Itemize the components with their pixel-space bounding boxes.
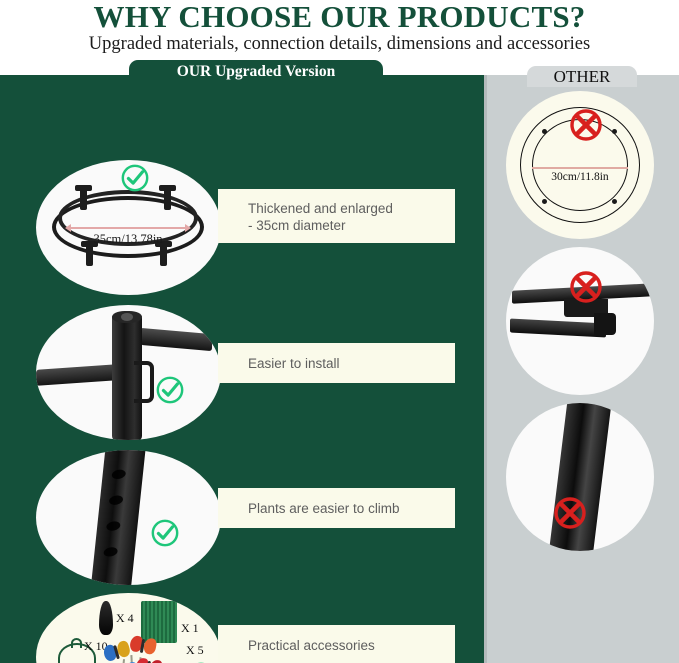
accessory-qty-ties: X 1 xyxy=(181,621,199,636)
dimension-arrow xyxy=(70,227,186,229)
ring-leg xyxy=(80,188,87,210)
other-image-pole xyxy=(506,403,654,551)
our-image-connector xyxy=(36,305,221,440)
cross-icon xyxy=(568,107,604,143)
butterfly xyxy=(129,635,158,657)
other-dimension-text: 30cm/11.8in xyxy=(516,171,644,183)
our-feature-label-1: Thickened and enlarged - 35cm diameter xyxy=(218,189,455,243)
ring-dot xyxy=(612,199,617,204)
butterfly-stakes-icon xyxy=(102,637,182,663)
check-icon xyxy=(155,375,185,405)
connector-arm-left xyxy=(36,364,118,386)
comparison-row-2: Easier to install xyxy=(0,305,484,440)
pole-notch xyxy=(108,494,124,506)
comparison-row-3: Plants are easier to climb xyxy=(0,450,484,585)
tab-our-upgraded-version[interactable]: OUR Upgraded Version xyxy=(129,60,383,84)
our-dimension-text: 35cm/13.78in xyxy=(52,232,204,247)
comparison-row-1: 35cm/13.78in Thickened and enlarged - 35… xyxy=(0,160,484,295)
ring-leg xyxy=(86,244,93,266)
connector-clip xyxy=(134,361,154,403)
wing xyxy=(149,659,163,663)
page-subtitle: Upgraded materials, connection details, … xyxy=(0,34,679,55)
other-bar-hook xyxy=(594,313,616,335)
ring-leg xyxy=(164,188,171,210)
other-image-ring: 30cm/11.8in xyxy=(506,91,654,239)
ring-dot xyxy=(612,129,617,134)
ring-dot xyxy=(542,199,547,204)
ring-leg xyxy=(160,244,167,266)
check-icon xyxy=(120,163,150,193)
our-feature-label-3: Plants are easier to climb xyxy=(218,488,455,528)
other-dimension-arrow xyxy=(532,167,628,169)
our-feature-label-4: Practical accessories xyxy=(218,625,455,663)
ring-illustration: 35cm/13.78in xyxy=(52,182,204,274)
accessory-qty-butterflies: X 5 xyxy=(186,643,204,658)
pole-notch xyxy=(111,468,127,480)
ring-dot xyxy=(542,129,547,134)
connector-illustration xyxy=(36,305,221,440)
label-line-1: Thickened and enlarged xyxy=(248,200,455,217)
accessory-qty-spike: X 4 xyxy=(116,611,134,626)
ground-spike-icon xyxy=(99,601,113,635)
pole-illustration xyxy=(36,450,221,585)
our-column-panel: 35cm/13.78in Thickened and enlarged - 35… xyxy=(0,75,484,663)
header: WHY CHOOSE OUR PRODUCTS? Upgraded materi… xyxy=(0,0,679,62)
pole-body xyxy=(90,450,147,585)
pole-notch xyxy=(106,520,122,532)
our-feature-label-2: Easier to install xyxy=(218,343,455,383)
cross-icon xyxy=(552,495,588,531)
page-title: WHY CHOOSE OUR PRODUCTS? xyxy=(0,0,679,35)
other-column-panel: 30cm/11.8in xyxy=(484,75,679,663)
label-line-2: - 35cm diameter xyxy=(248,217,455,234)
pole-notch xyxy=(103,546,119,558)
comparison-infographic: WHY CHOOSE OUR PRODUCTS? Upgraded materi… xyxy=(0,0,679,663)
butterfly xyxy=(102,640,132,663)
connector-arm-right xyxy=(140,328,212,351)
connector-post-top xyxy=(112,311,142,323)
other-image-connector xyxy=(506,247,654,395)
our-image-accessories: X 4 X 1 X 10 xyxy=(36,593,221,663)
our-image-pole xyxy=(36,450,221,585)
tab-other[interactable]: OTHER xyxy=(527,66,637,87)
check-icon xyxy=(150,518,180,548)
butterfly xyxy=(135,657,163,663)
comparison-row-4: X 4 X 1 X 10 xyxy=(0,593,484,663)
cross-icon xyxy=(568,269,604,305)
other-bar-bottom xyxy=(510,318,606,337)
